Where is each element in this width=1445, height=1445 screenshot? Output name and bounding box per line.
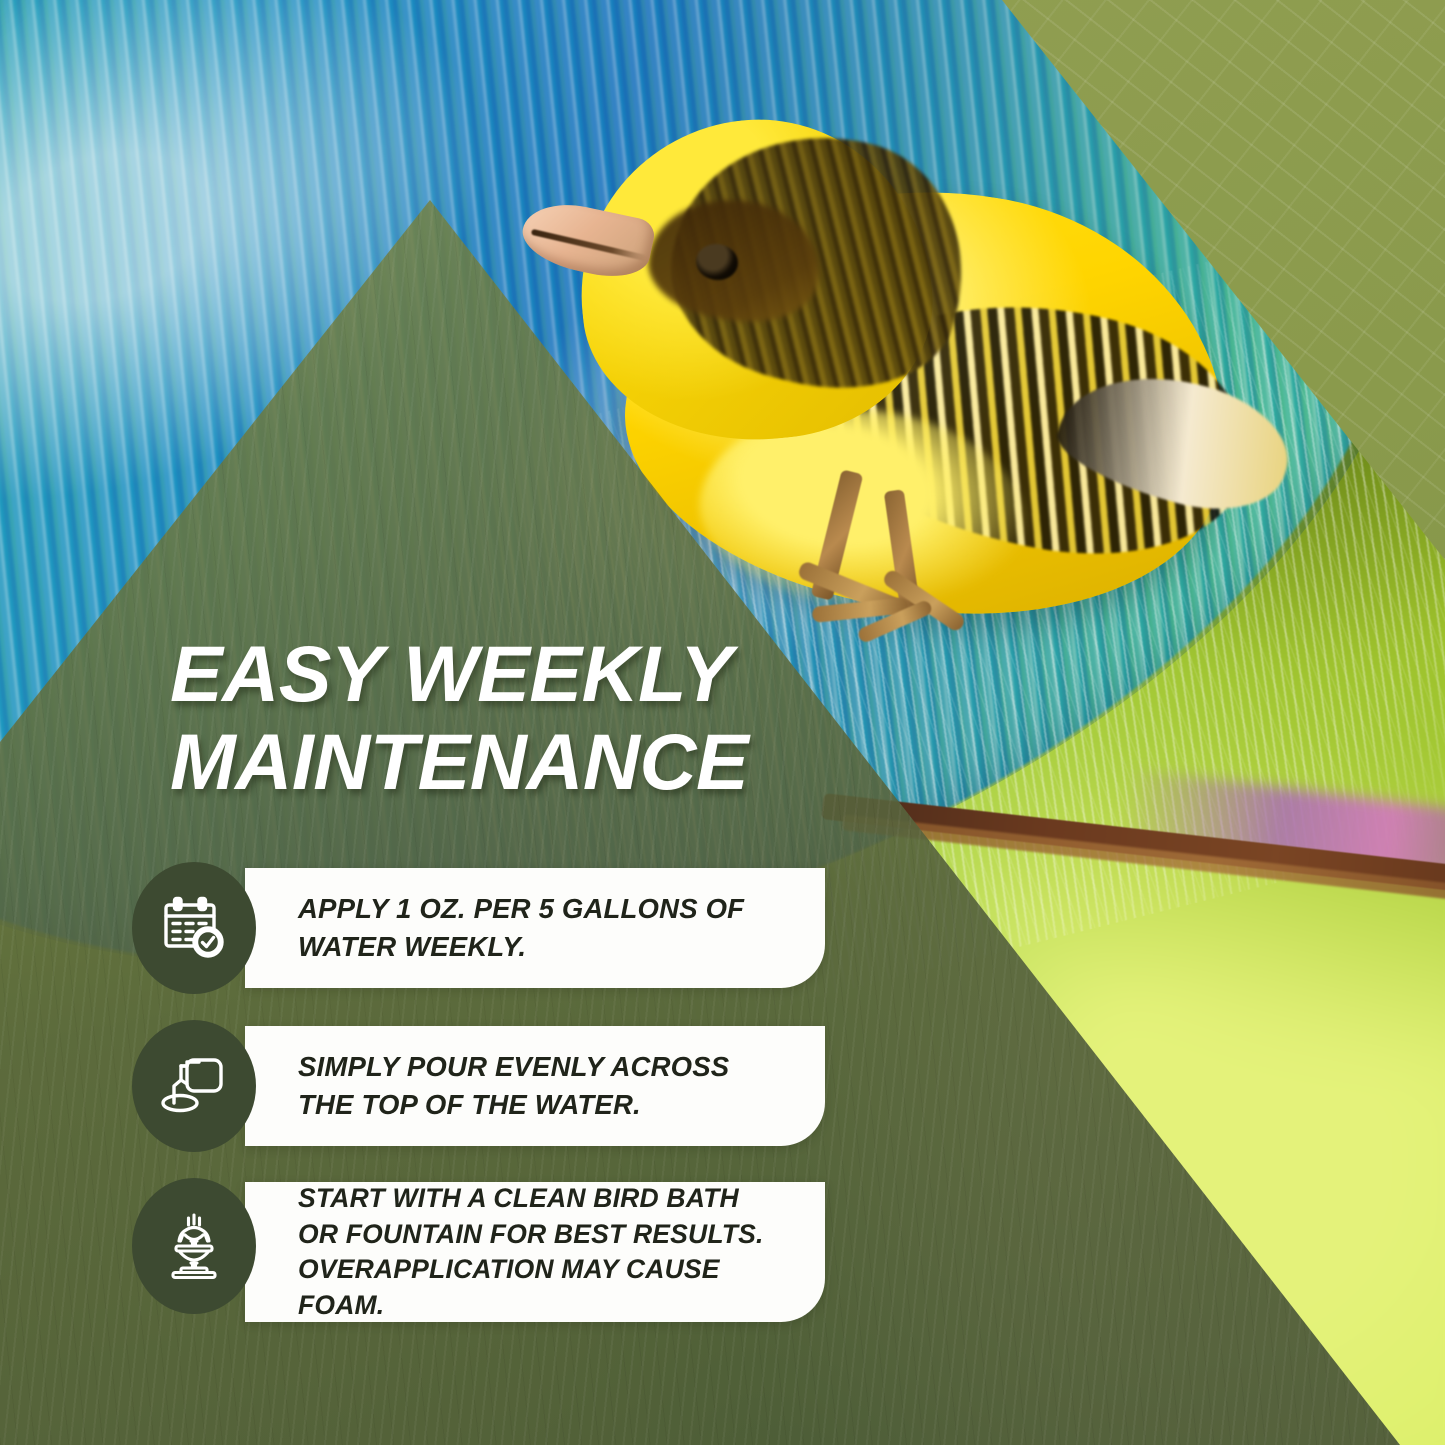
instruction-text: APPLY 1 OZ. PER 5 GALLONS OF WATER WEEKL… [298,890,768,966]
content-layer: EASY WEEKLY MAINTENANCE APPLY 1 OZ. PER … [0,0,1445,1445]
instruction-badge [132,1178,256,1314]
instruction-pill: APPLY 1 OZ. PER 5 GALLONS OF WATER WEEKL… [245,868,825,988]
instruction-list: APPLY 1 OZ. PER 5 GALLONS OF WATER WEEKL… [0,862,1445,1351]
marketing-infographic: EASY WEEKLY MAINTENANCE APPLY 1 OZ. PER … [0,0,1445,1445]
instruction-pill: SIMPLY POUR EVENLY ACROSS THE TOP OF THE… [245,1026,825,1146]
headline-line-2: MAINTENANCE [170,718,930,806]
instruction-badge [132,1020,256,1152]
instruction-text: SIMPLY POUR EVENLY ACROSS THE TOP OF THE… [298,1048,768,1124]
instruction-badge [132,862,256,994]
list-item: START WITH A CLEAN BIRD BATH OR FOUNTAIN… [0,1178,1445,1328]
page-title: EASY WEEKLY MAINTENANCE [170,630,930,807]
calendar-check-icon [160,894,228,962]
headline-line-1: EASY WEEKLY [170,630,930,718]
list-item: APPLY 1 OZ. PER 5 GALLONS OF WATER WEEKL… [0,862,1445,997]
instruction-pill: START WITH A CLEAN BIRD BATH OR FOUNTAIN… [245,1182,825,1322]
bird-bath-fountain-icon [158,1210,230,1282]
pouring-bottle-icon [159,1053,229,1119]
instruction-text: START WITH A CLEAN BIRD BATH OR FOUNTAIN… [298,1181,768,1323]
list-item: SIMPLY POUR EVENLY ACROSS THE TOP OF THE… [0,1020,1445,1155]
